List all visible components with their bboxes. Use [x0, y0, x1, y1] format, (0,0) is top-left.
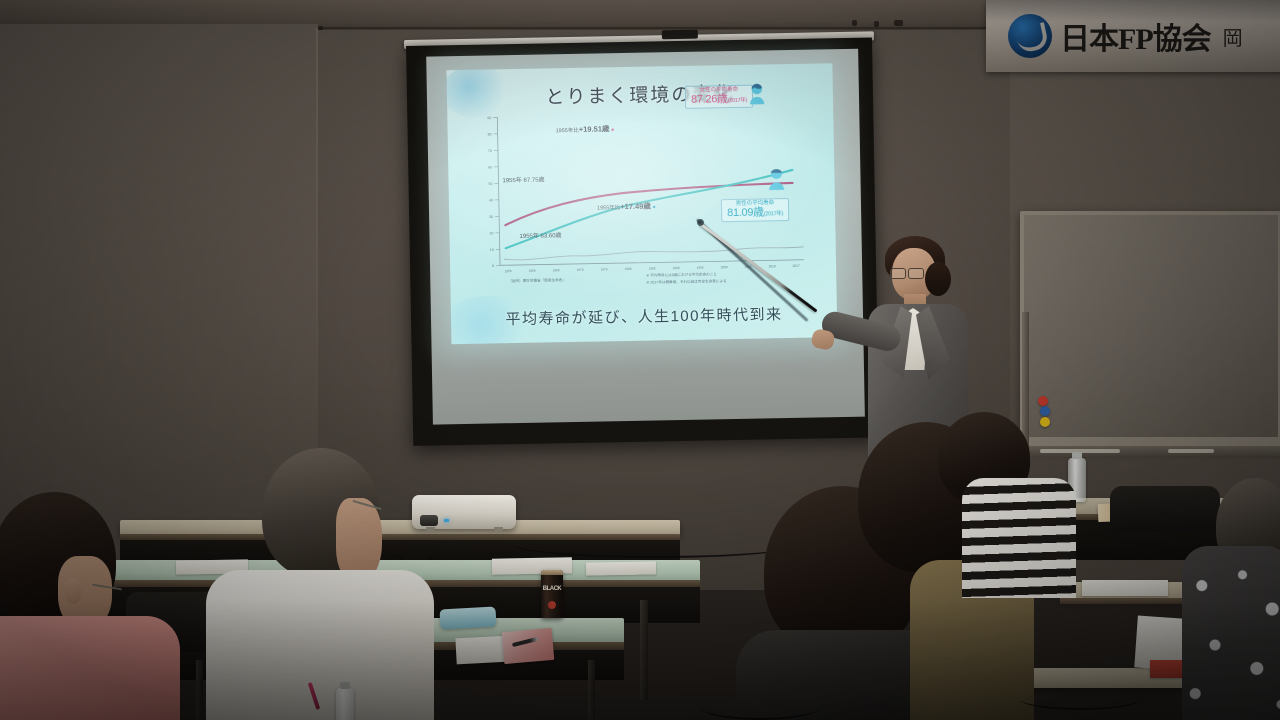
chart-footnote-source: （出所）厚生労働省「簡易生命表」: [508, 278, 566, 284]
attendee-white-shirt-torso: [206, 570, 434, 720]
svg-text:1975: 1975: [601, 267, 608, 271]
handout-paper: [1082, 580, 1168, 596]
projection-screen: とりまく環境の変化: [406, 37, 879, 445]
screen-roller-knob: [662, 30, 698, 40]
callout-male-year: (2017年): [764, 211, 783, 217]
projected-slide: とりまく環境の変化: [446, 63, 837, 344]
fp-association-banner: 日本FP協会 岡: [986, 0, 1280, 72]
projector-power-led: [444, 519, 449, 522]
whiteboard-support-post: [1022, 312, 1029, 452]
svg-text:1965: 1965: [553, 268, 560, 272]
ceiling-fixture-dot: [894, 20, 903, 26]
video-projector: [412, 495, 516, 529]
delta-value-male: +17.49歳: [620, 202, 651, 212]
presenter-hair-back: [925, 262, 951, 296]
screen-surface: とりまく環境の変化: [426, 49, 865, 425]
desk-leg: [196, 660, 203, 720]
baseline-label-male: 1955年 63.60歳: [519, 230, 561, 240]
seminar-room-photo: 日本FP協会 岡 とりまく環境の変化: [0, 0, 1280, 720]
desk-leg: [640, 600, 648, 700]
svg-text:30: 30: [489, 215, 493, 219]
whiteboard-tray: [1018, 446, 1280, 458]
female-person-icon: [747, 82, 767, 104]
callout-female-value: 87.26歳: [691, 93, 728, 106]
attendee-floral-top-torso: [1182, 546, 1280, 720]
callout-male: 男性の平均寿命 81.09歳(2017年): [721, 198, 789, 223]
attendee-pink-shirt-torso: [0, 616, 180, 720]
attendee-pink-shirt-ear: [64, 578, 82, 604]
magnet-blue: [1040, 406, 1050, 416]
svg-text:1985: 1985: [649, 266, 656, 270]
can-lid: [541, 570, 563, 575]
fp-association-logo-icon: [1008, 14, 1052, 58]
svg-text:2017: 2017: [793, 264, 800, 268]
svg-text:2010: 2010: [769, 264, 776, 268]
svg-text:1980: 1980: [625, 267, 632, 271]
chair-backrest: [1110, 486, 1220, 532]
projector-foot: [494, 527, 503, 532]
whiteboard: [1020, 211, 1280, 447]
bottle-cap: [1072, 452, 1082, 459]
water-bottle-left: [336, 688, 354, 720]
svg-text:60: 60: [488, 165, 492, 169]
pink-booklet: [502, 628, 555, 664]
svg-text:70: 70: [488, 149, 492, 153]
projector-cable: [512, 530, 802, 558]
whiteboard-eraser: [1168, 449, 1214, 453]
delta-annotation-male: 1955年比+17.49歳 ●: [597, 200, 656, 212]
svg-text:50: 50: [489, 182, 493, 186]
eyeglasses-case: [440, 607, 497, 630]
magnet-yellow: [1040, 417, 1050, 427]
coffee-can: BLACK: [541, 570, 563, 618]
desk-leg: [588, 660, 595, 720]
presenter-eyeglasses: [890, 268, 924, 277]
whiteboard-surface: [1024, 215, 1278, 437]
magnet-red: [1038, 396, 1048, 406]
projector-foot: [426, 527, 435, 532]
callout-female: 女性の平均寿命 87.26歳(2017年): [685, 85, 753, 110]
svg-text:20: 20: [489, 231, 493, 235]
handout-paper: [586, 561, 656, 575]
ceiling-fixture-dot: [852, 20, 857, 26]
svg-text:80: 80: [488, 132, 492, 136]
delta-prefix-male: 1955年比: [597, 205, 620, 211]
baseline-label-female: 1955年 67.75歳: [502, 174, 544, 184]
svg-text:10: 10: [490, 248, 494, 252]
svg-text:1955: 1955: [505, 269, 512, 273]
banner-chapter: 岡: [1223, 22, 1243, 51]
banner-org-name: 日本FP協会: [1060, 14, 1211, 58]
attendee-striped-shirt-torso: [962, 478, 1076, 598]
svg-text:40: 40: [489, 198, 493, 202]
svg-text:2000: 2000: [721, 265, 728, 269]
svg-text:1995: 1995: [697, 266, 704, 270]
svg-text:1990: 1990: [673, 266, 680, 270]
delta-prefix-female: 1955年比: [556, 128, 579, 134]
delta-value-female: +19.51歳: [579, 124, 610, 134]
bottle-cap: [340, 682, 350, 689]
svg-text:0: 0: [492, 264, 494, 268]
can-label: BLACK: [541, 586, 563, 592]
projector-lens: [420, 515, 438, 526]
floor-cable: [1020, 688, 1140, 710]
ceiling-fixture-dot: [874, 21, 879, 27]
svg-text:1970: 1970: [577, 268, 584, 272]
pointer-tip: [697, 219, 704, 226]
svg-text:1960: 1960: [529, 269, 536, 273]
floor-cable: [700, 694, 820, 720]
svg-text:90: 90: [487, 116, 491, 120]
callout-female-year: (2017年): [728, 98, 747, 104]
male-person-icon: [766, 168, 786, 190]
delta-annotation-female: 1955年比+19.51歳 ●: [555, 123, 614, 135]
slide-title: とりまく環境の変化: [447, 77, 833, 111]
can-emblem: [548, 601, 556, 609]
callout-male-value: 81.09歳: [727, 206, 764, 219]
